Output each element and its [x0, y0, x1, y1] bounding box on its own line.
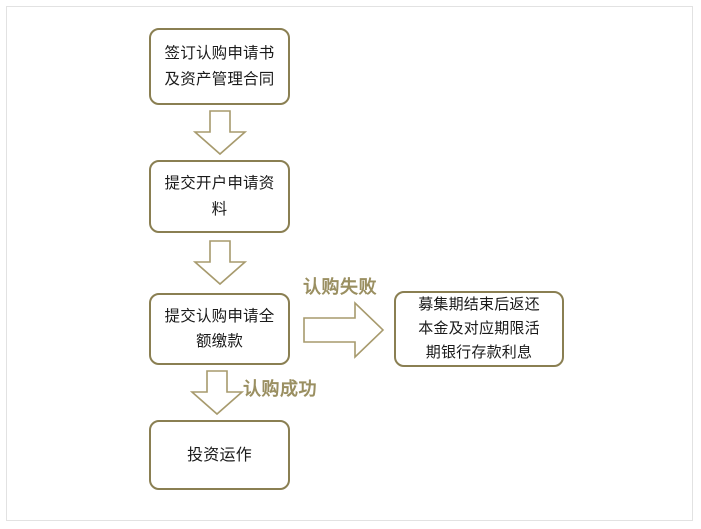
edge-label-subscription-failed: 认购失败: [303, 273, 377, 299]
flow-node-sign-agreement-label: 签订认购申请书 及资产管理合同: [155, 41, 285, 91]
flow-node-investment-operation-label: 投资运作: [177, 442, 262, 468]
canvas-frame: [6, 6, 693, 521]
flow-node-submit-subscription-payment-label: 提交认购申请全 额缴款: [155, 304, 285, 354]
flow-node-refund-principal-interest[interactable]: 募集期结束后返还 本金及对应期限活 期银行存款利息: [394, 291, 564, 367]
flow-node-refund-principal-interest-label: 募集期结束后返还 本金及对应期限活 期银行存款利息: [408, 293, 550, 364]
arrow-down-sign-to-account: [193, 110, 247, 156]
flow-node-submit-subscription-payment[interactable]: 提交认购申请全 额缴款: [149, 293, 290, 365]
arrow-down-account-to-payment: [193, 240, 247, 286]
flow-node-investment-operation[interactable]: 投资运作: [149, 420, 290, 490]
edge-label-subscription-succeeded: 认购成功: [243, 375, 317, 401]
flow-node-submit-account-materials[interactable]: 提交开户申请资 料: [149, 160, 290, 233]
flow-node-sign-agreement[interactable]: 签订认购申请书 及资产管理合同: [149, 28, 290, 105]
arrow-down-payment-to-operate: [190, 370, 244, 416]
arrow-right-payment-to-refund: [303, 301, 385, 359]
flow-node-submit-account-materials-label: 提交开户申请资 料: [155, 171, 285, 221]
flowchart-canvas: 签订认购申请书 及资产管理合同 提交开户申请资 料 提交认购申请全 额缴款 认购…: [0, 0, 701, 529]
